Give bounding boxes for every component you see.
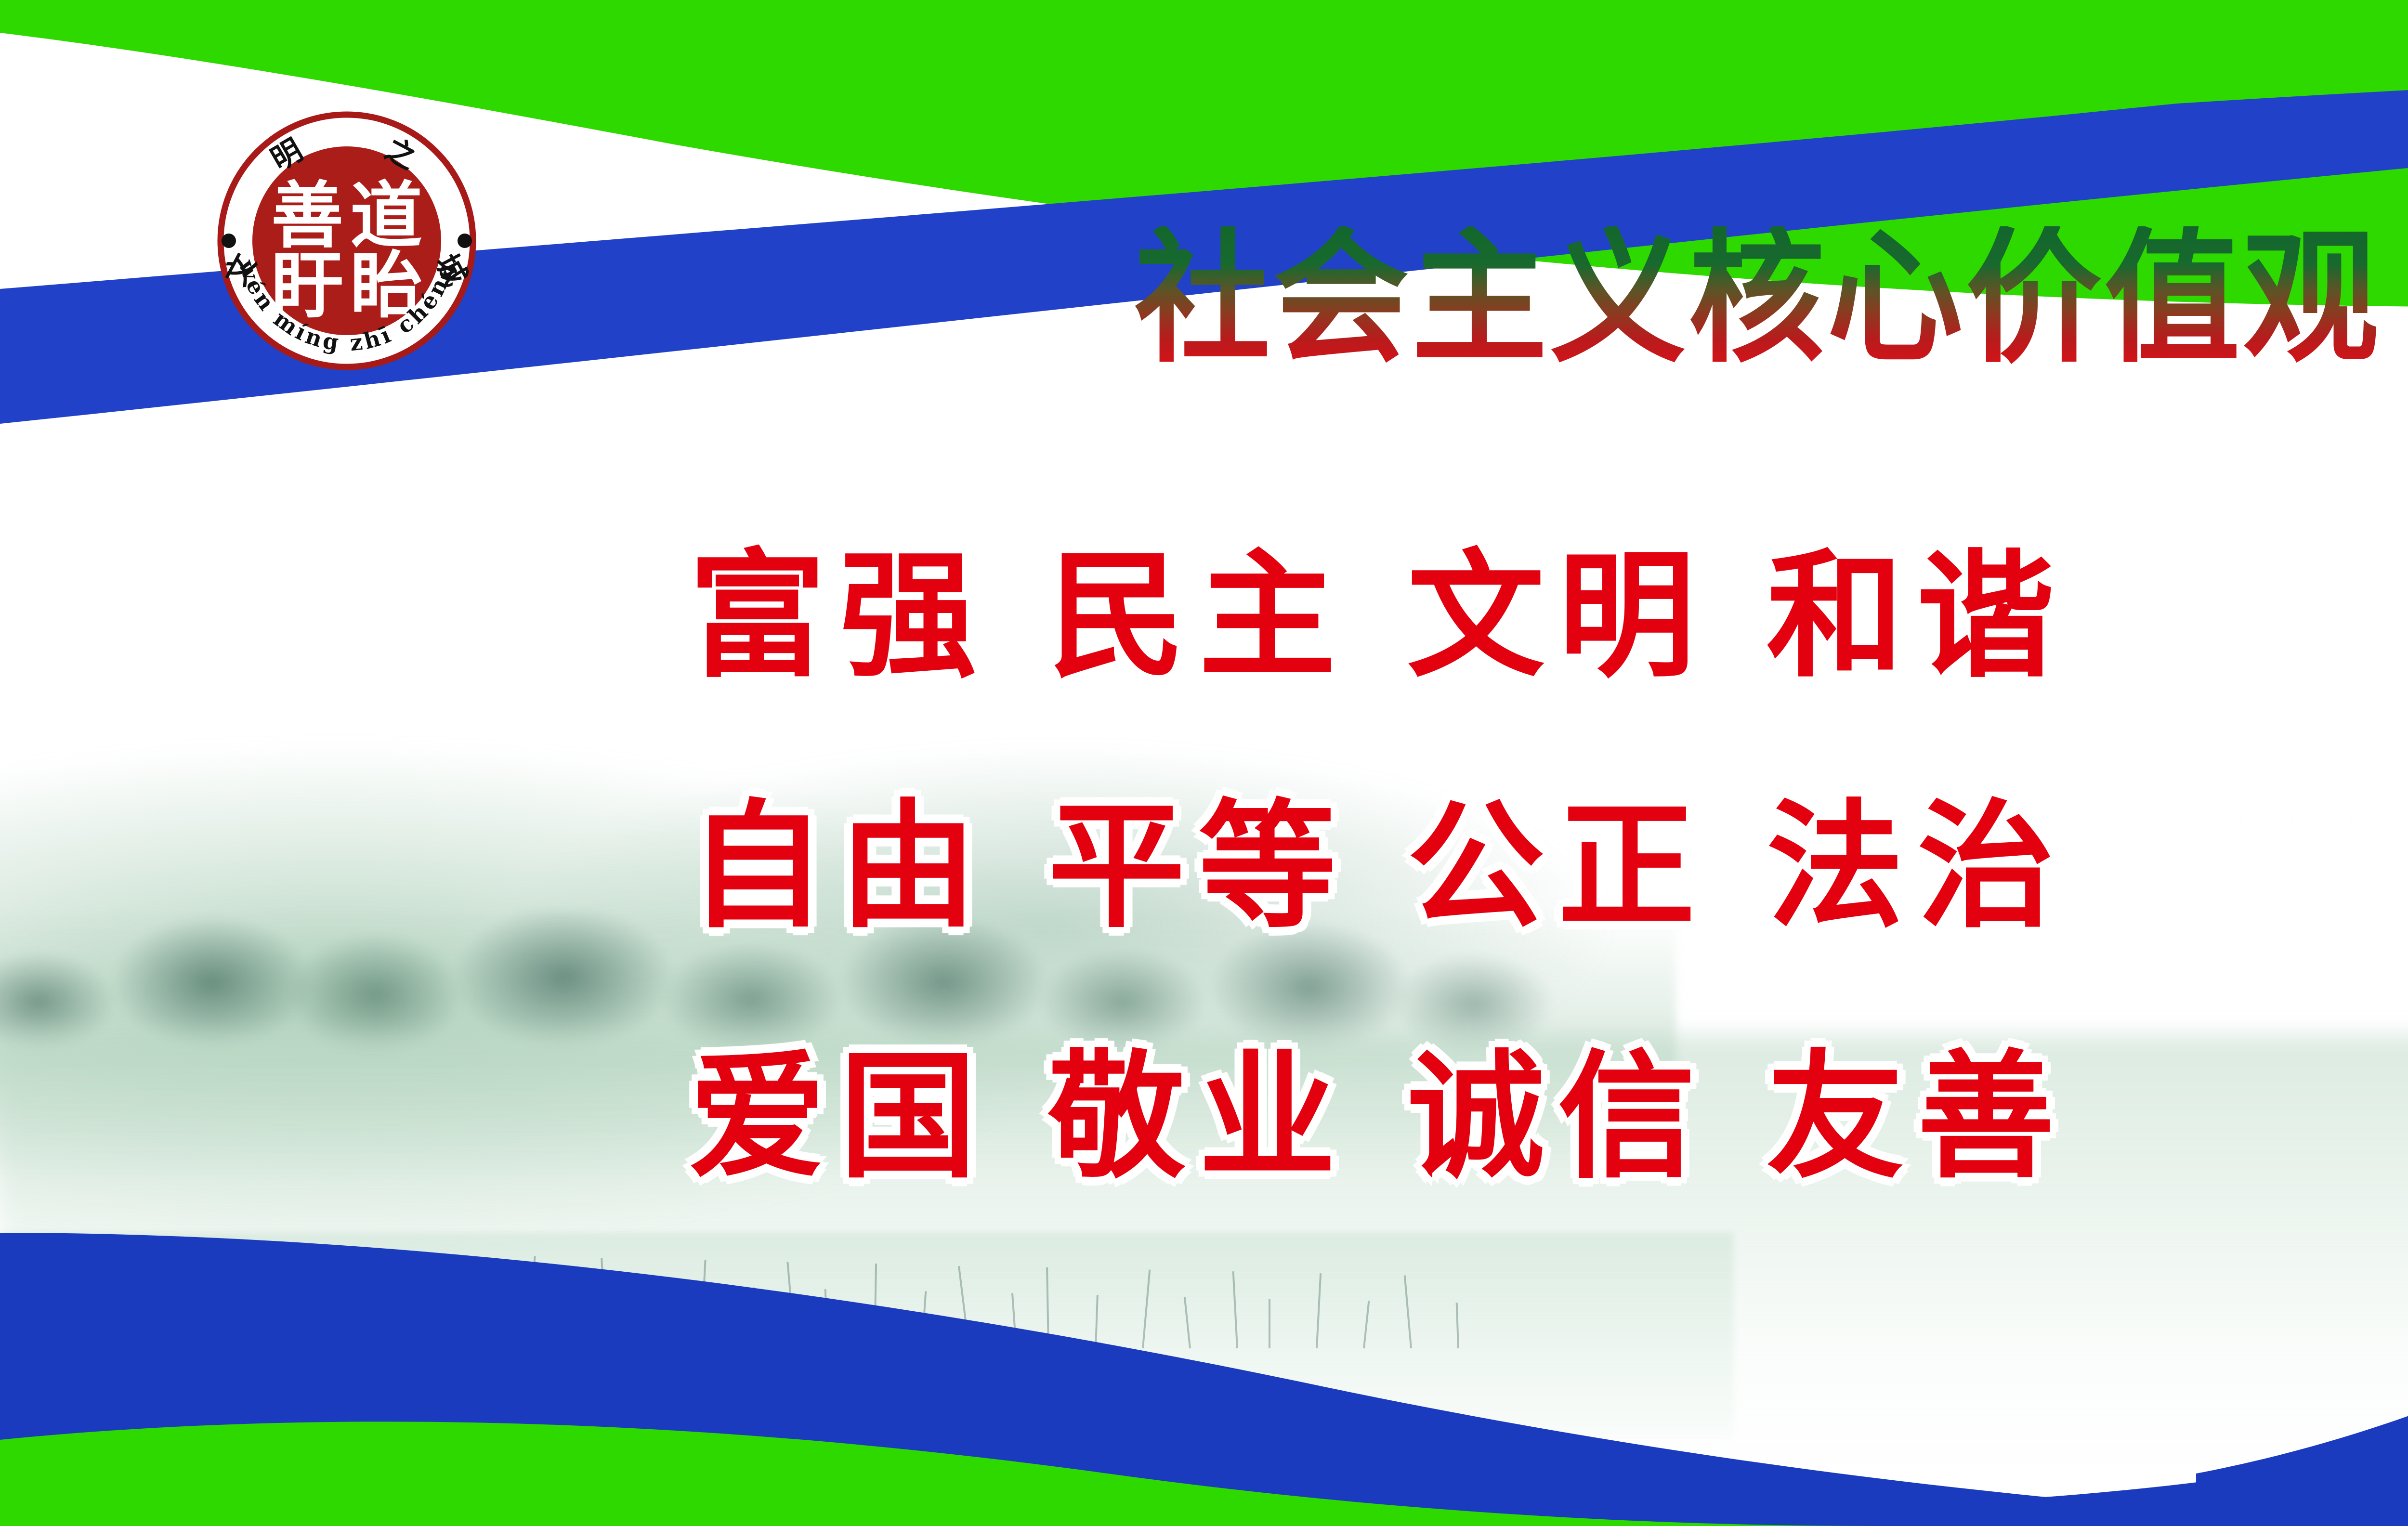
slogan-line-3: 爱国 敬业 诚信 友善 (689, 992, 2408, 1242)
city-emblem-logo: 文 明 之 城 善 道 盱 眙 wén míng zhī chéng (178, 48, 515, 424)
slogan-word: 公正 (1407, 798, 1709, 936)
emblem-dot-right (458, 234, 472, 248)
ribbon-blue-sweep-1 (1955, 1199, 2408, 1526)
slogan-word: 诚信 (1407, 1049, 1709, 1186)
slogan-word: 爱国 (689, 1049, 990, 1186)
slogan-word: 文明 (1407, 548, 1709, 685)
slogan-word: 友善 (1767, 1049, 2068, 1186)
core-values-slogans: 富强 民主 文明 和谐 自由 平等 公正 法治 爱国 敬业 诚信 友善 (689, 491, 2408, 1242)
banner-title: 社会主义核心价值观 (819, 202, 2408, 395)
slogan-word: 敬业 (1048, 1049, 1349, 1186)
banner-title-text: 社会主义核心价值观 (1135, 226, 2382, 371)
slogan-word: 富强 (689, 548, 990, 685)
slogan-line-2: 自由 平等 公正 法治 (689, 742, 2408, 992)
slogan-word: 法治 (1767, 798, 2068, 936)
slogan-word: 民主 (1048, 548, 1349, 685)
banner-board: 文 明 之 城 善 道 盱 眙 wén míng zhī chéng 社会主义核… (0, 0, 2408, 1526)
slogan-word: 自由 (689, 798, 990, 936)
slogan-word: 和谐 (1767, 548, 2068, 685)
slogan-word: 平等 (1048, 798, 1349, 936)
slogan-line-1: 富强 民主 文明 和谐 (689, 491, 2408, 742)
emblem-dot-left (222, 234, 236, 248)
